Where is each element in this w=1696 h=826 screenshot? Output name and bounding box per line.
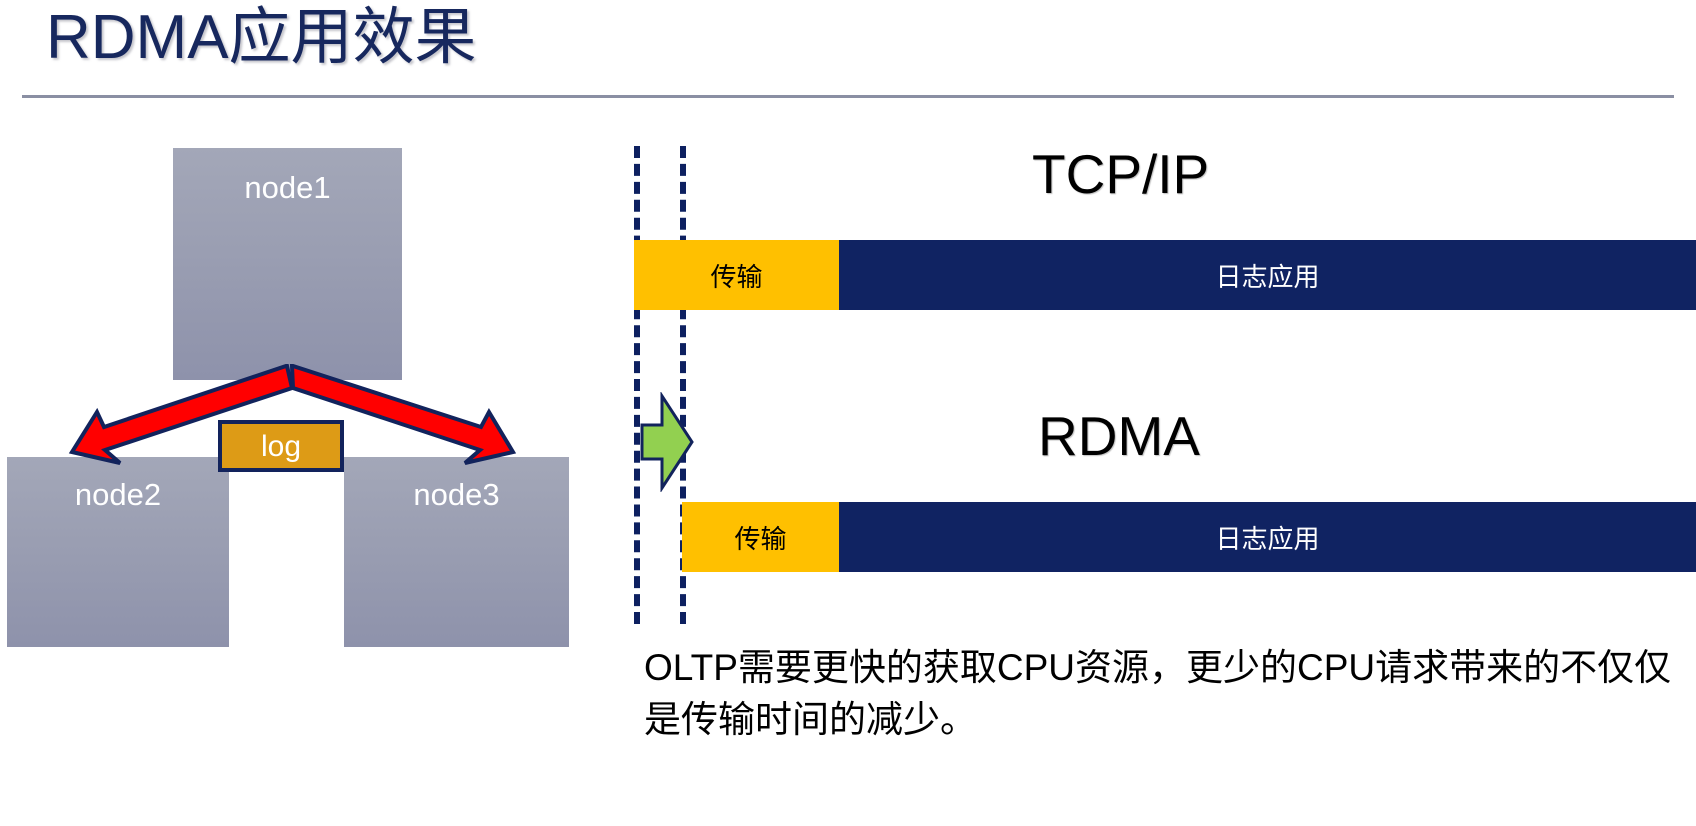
bar-segment-transfer: 传输 [634, 240, 839, 310]
right-arrow-icon [638, 392, 696, 492]
bar-segment-transfer: 传输 [682, 502, 839, 572]
latency-comparison-chart: TCP/IP RDMA 传输 日志应用 传输 日志应用 OLTP需要更快的获取C… [620, 130, 1696, 826]
bar-title-rdma: RDMA [1038, 406, 1200, 466]
stacked-bar-rdma: 传输 日志应用 [682, 502, 1696, 572]
chart-caption: OLTP需要更快的获取CPU资源，更少的CPU请求带来的不仅仅是传输时间的减少。 [644, 642, 1680, 746]
stacked-bar-tcpip: 传输 日志应用 [634, 240, 1696, 310]
log-box[interactable]: log [218, 420, 344, 472]
bar-segment-log-app: 日志应用 [839, 240, 1696, 310]
right-arrow-icon-shape [642, 396, 692, 488]
log-box-label: log [261, 430, 301, 463]
title-divider [22, 95, 1674, 98]
bar-title-tcpip: TCP/IP [1032, 144, 1209, 204]
slide-canvas: RDMA应用效果 node1 node2 node3 log [0, 0, 1696, 826]
page-title: RDMA应用效果 [46, 2, 477, 74]
guide-line-start [634, 146, 640, 624]
replication-topology-diagram: node1 node2 node3 log [0, 120, 620, 820]
bar-segment-log-app: 日志应用 [839, 502, 1696, 572]
